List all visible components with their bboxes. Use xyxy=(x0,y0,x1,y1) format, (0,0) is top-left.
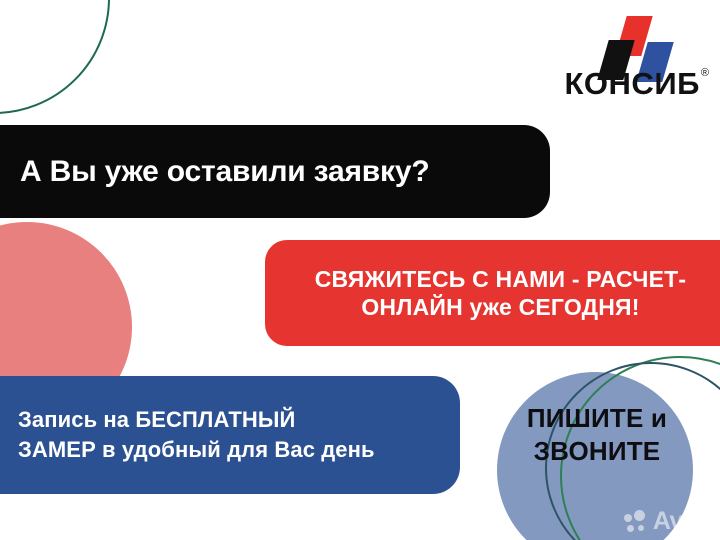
brand-logo: КОНСИБ® xyxy=(558,16,708,108)
avito-dots-icon xyxy=(623,510,649,534)
logo-wordmark: КОНСИБ xyxy=(565,66,700,101)
registered-trademark-icon: ® xyxy=(701,67,709,79)
measure-line-2: ЗАМЕР в удобный для Вас день xyxy=(18,437,375,462)
question-banner-text: А Вы уже оставили заявку? xyxy=(20,155,429,188)
avito-watermark: Avito xyxy=(623,509,712,534)
cta-line-1: ПИШИТЕ и xyxy=(527,403,667,433)
logo-mark-group xyxy=(558,16,708,68)
call-to-action-write-and-call: ПИШИТЕ и ЗВОНИТЕ xyxy=(497,402,697,469)
free-measurement-banner-text: Запись на БЕСПЛАТНЫЙ ЗАМЕР в удобный для… xyxy=(18,405,375,464)
free-measurement-banner: Запись на БЕСПЛАТНЫЙ ЗАМЕР в удобный для… xyxy=(0,376,460,494)
question-banner: А Вы уже оставили заявку? xyxy=(0,125,550,218)
measure-line-1: Запись на БЕСПЛАТНЫЙ xyxy=(18,407,295,432)
advertisement-banner: КОНСИБ® А Вы уже оставили заявку? СВЯЖИТ… xyxy=(0,0,720,540)
avito-watermark-text: Avito xyxy=(653,509,712,534)
contact-line-2-light: уже xyxy=(463,294,519,320)
contact-banner: СВЯЖИТЕСЬ С НАМИ - РАСЧЕТ- ОНЛАЙН уже СЕ… xyxy=(265,240,720,346)
logo-wordmark-row: КОНСИБ® xyxy=(558,68,708,99)
contact-line-1: СВЯЖИТЕСЬ С НАМИ - РАСЧЕТ- xyxy=(315,266,687,292)
cta-line-2: ЗВОНИТЕ xyxy=(534,436,661,466)
contact-line-2-strong-a: ОНЛАЙН xyxy=(361,294,463,320)
contact-banner-text: СВЯЖИТЕСЬ С НАМИ - РАСЧЕТ- ОНЛАЙН уже СЕ… xyxy=(315,265,687,321)
decorative-ring-green-topleft xyxy=(0,0,110,114)
contact-line-2-strong-b: СЕГОДНЯ! xyxy=(519,294,640,320)
